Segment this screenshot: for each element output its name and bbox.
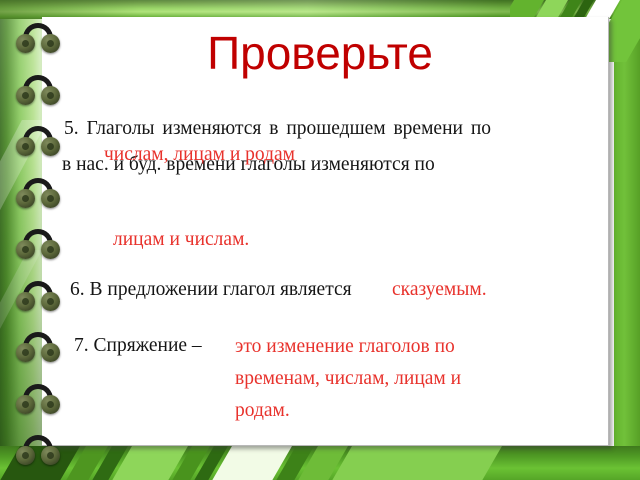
answer-5-overlap: числам, лицам и родам bbox=[104, 142, 295, 167]
question-5-line-1: 5. Глаголы изменяются в прошедшем времен… bbox=[64, 116, 491, 141]
binding-bead bbox=[41, 343, 60, 362]
spiral-binding-ring bbox=[16, 178, 60, 208]
binding-bead bbox=[16, 34, 35, 53]
binding-bead bbox=[41, 292, 60, 311]
spiral-binding-ring bbox=[16, 229, 60, 259]
binding-bead bbox=[41, 446, 60, 465]
spiral-binding-ring bbox=[16, 126, 60, 156]
page-title: Проверьте bbox=[0, 27, 640, 79]
spiral-binding-ring bbox=[16, 281, 60, 311]
answer-6: сказуемым. bbox=[392, 277, 487, 302]
binding-bead bbox=[41, 189, 60, 208]
binding-bead bbox=[16, 189, 35, 208]
spiral-binding-ring bbox=[16, 435, 60, 465]
binding-bead bbox=[41, 240, 60, 259]
binding-bead bbox=[16, 240, 35, 259]
question-7: 7. Спряжение – bbox=[74, 333, 202, 358]
binding-bead bbox=[16, 137, 35, 156]
binding-bead bbox=[41, 86, 60, 105]
binding-bead bbox=[16, 86, 35, 105]
spiral-binding-ring bbox=[16, 332, 60, 362]
spiral-binding-ring bbox=[16, 23, 60, 53]
frame-bottom-band bbox=[0, 446, 640, 480]
binding-bead bbox=[16, 395, 35, 414]
question-6: 6. В предложении глагол является bbox=[70, 277, 352, 302]
binding-bead bbox=[16, 343, 35, 362]
binding-bead bbox=[41, 395, 60, 414]
binding-bead bbox=[41, 34, 60, 53]
spiral-binding-ring bbox=[16, 75, 60, 105]
answer-5-below: лицам и числам. bbox=[113, 227, 249, 252]
slide: Проверьте 5. Глаголы изменяются в прошед… bbox=[0, 0, 640, 480]
binding-bead bbox=[16, 446, 35, 465]
decor-stripe bbox=[331, 446, 502, 480]
spiral-binding-ring bbox=[16, 384, 60, 414]
binding-bead bbox=[41, 137, 60, 156]
binding-bead bbox=[16, 292, 35, 311]
answer-7: это изменение глаголов по временам, числ… bbox=[235, 331, 495, 427]
